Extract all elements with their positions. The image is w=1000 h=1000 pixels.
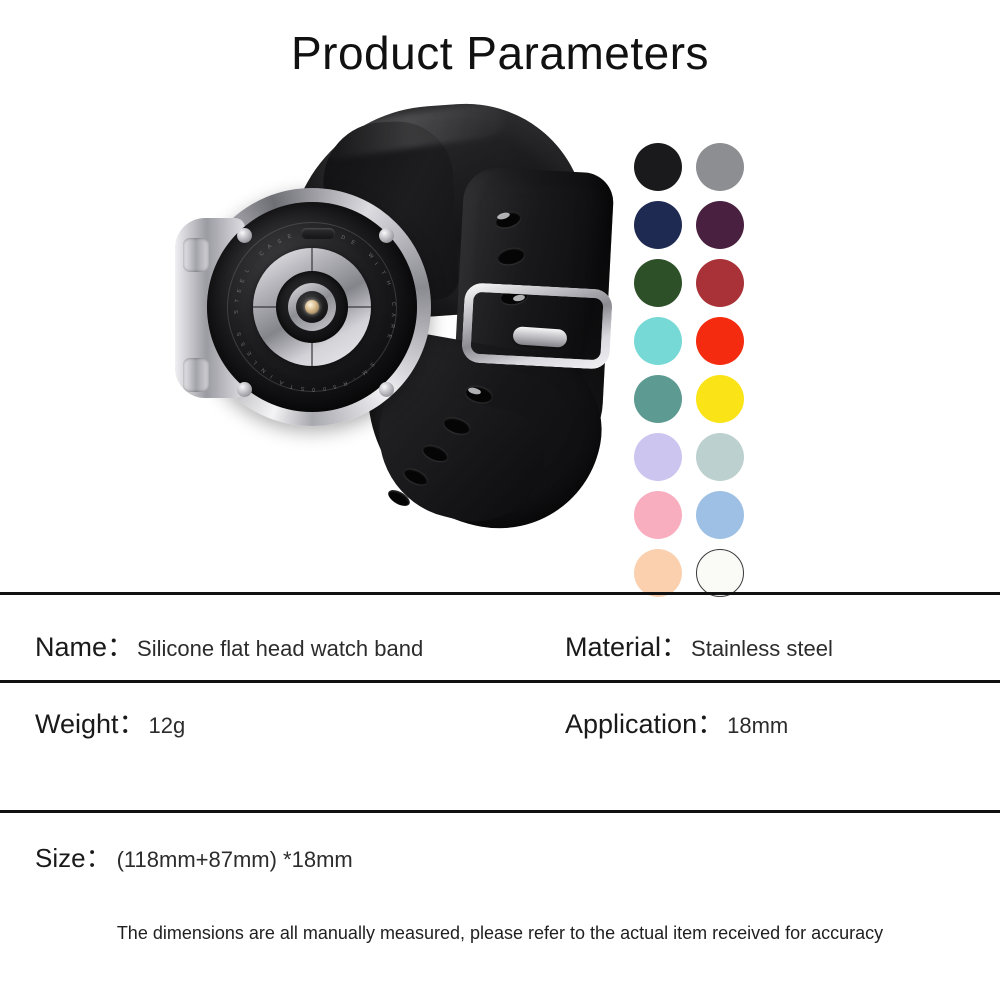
engraving-character: C — [258, 250, 265, 257]
engraving-character: S — [300, 385, 305, 392]
spec-value-size: (118mm+87mm) *18mm — [117, 847, 353, 873]
engraving-character: 0 — [312, 386, 315, 392]
case-screw — [237, 228, 252, 243]
engraving-character: T — [379, 270, 386, 276]
engraving-character: R — [388, 323, 395, 328]
engraving-character: E — [240, 278, 247, 284]
engraving-character: C — [390, 302, 396, 306]
divider-line-bottom — [0, 810, 1000, 813]
color-swatch-navy-blue[interactable] — [634, 201, 682, 249]
strap-buckle-prong — [512, 326, 567, 348]
spec-label-weight: Weight： — [35, 702, 146, 741]
engraving-character: A — [279, 378, 285, 385]
product-image-area: STAINLESS STEEL CASE MADE WITH CARE SM-R… — [0, 95, 1000, 565]
engraving-character: E — [236, 288, 243, 293]
color-swatch-gray[interactable] — [696, 143, 744, 191]
color-swatch-pale-sage[interactable] — [696, 433, 744, 481]
engraving-character: A — [267, 244, 273, 251]
engraving-character: S — [241, 341, 248, 347]
watch-back-slot — [301, 228, 335, 239]
engraving-character: S — [234, 310, 240, 314]
engraving-character: H — [384, 280, 391, 286]
spec-value-weight: 12g — [149, 713, 186, 739]
engraving-character: W — [367, 252, 375, 260]
spec-value-application: 18mm — [727, 713, 788, 739]
engraving-character: 5 — [332, 383, 337, 390]
divider-line-top — [0, 592, 1000, 595]
spec-label-material: Material： — [565, 625, 688, 664]
spec-value-material: Stainless steel — [691, 636, 833, 662]
engraving-character: N — [260, 366, 267, 373]
color-swatch-dark-green[interactable] — [634, 259, 682, 307]
engraving-character: I — [373, 262, 379, 267]
spec-cell-weight: Weight： 12g — [0, 702, 545, 741]
engraving-character: E — [287, 234, 292, 241]
engraving-character: L — [244, 268, 251, 274]
engraving-character: I — [269, 373, 274, 379]
case-screw — [379, 382, 394, 397]
spec-label-application: Application： — [565, 702, 724, 741]
engraving-character: S — [237, 331, 244, 336]
engraving-character: A — [390, 313, 396, 317]
spec-label-size: Size： — [35, 838, 112, 875]
strap-buckle-frame — [461, 282, 613, 370]
watch-button-bottom — [183, 358, 209, 392]
divider-line-middle — [0, 680, 1000, 683]
color-swatch-light-blue[interactable] — [696, 491, 744, 539]
smartwatch-with-band-illustration: STAINLESS STEEL CASE MADE WITH CARE SM-R… — [175, 100, 645, 530]
spec-row-weight-application: Weight： 12g Application： 18mm — [0, 702, 1000, 741]
engraving-character: S — [276, 238, 282, 245]
color-swatch-black[interactable] — [634, 143, 682, 191]
color-swatch-bright-red[interactable] — [696, 317, 744, 365]
engraving-character: 0 — [322, 385, 326, 391]
color-swatch-yellow[interactable] — [696, 375, 744, 423]
spec-cell-application: Application： 18mm — [545, 702, 1000, 741]
page-title: Product Parameters — [0, 26, 1000, 80]
spec-value-name: Silicone flat head watch band — [137, 636, 423, 662]
color-swatch-pink[interactable] — [634, 491, 682, 539]
case-screw — [379, 228, 394, 243]
case-screw — [237, 382, 252, 397]
engraving-character: - — [352, 375, 357, 381]
color-swatch-peach[interactable] — [634, 549, 682, 597]
engraving-character: E — [350, 239, 356, 246]
color-swatch-turquoise[interactable] — [634, 317, 682, 365]
spec-cell-material: Material： Stainless steel — [545, 625, 1000, 664]
engraving-character: D — [340, 235, 346, 242]
color-swatch-lavender[interactable] — [634, 433, 682, 481]
color-swatch-dark-plum[interactable] — [696, 201, 744, 249]
engraving-character: T — [289, 382, 294, 389]
engraving-character: L — [252, 359, 259, 365]
spec-row-size: Size： (118mm+87mm) *18mm — [35, 838, 353, 875]
spec-cell-name: Name： Silicone flat head watch band — [0, 625, 545, 664]
product-parameters-page: Product Parameters — [0, 0, 1000, 1000]
engraving-character: E — [246, 350, 253, 356]
watch-button-top — [183, 238, 209, 272]
spec-label-name: Name： — [35, 625, 134, 664]
color-swatch-brick-red[interactable] — [696, 259, 744, 307]
color-swatch-teal-gray[interactable] — [634, 375, 682, 423]
measurement-disclaimer: The dimensions are all manually measured… — [0, 923, 1000, 944]
color-swatch-grid — [634, 143, 744, 597]
color-swatch-white[interactable] — [696, 549, 744, 597]
engraving-character: E — [385, 334, 392, 339]
engraving-character: T — [234, 299, 240, 303]
spec-row-name-material: Name： Silicone flat head watch band Mate… — [0, 625, 1000, 664]
sensor-lens-icon — [305, 300, 319, 314]
